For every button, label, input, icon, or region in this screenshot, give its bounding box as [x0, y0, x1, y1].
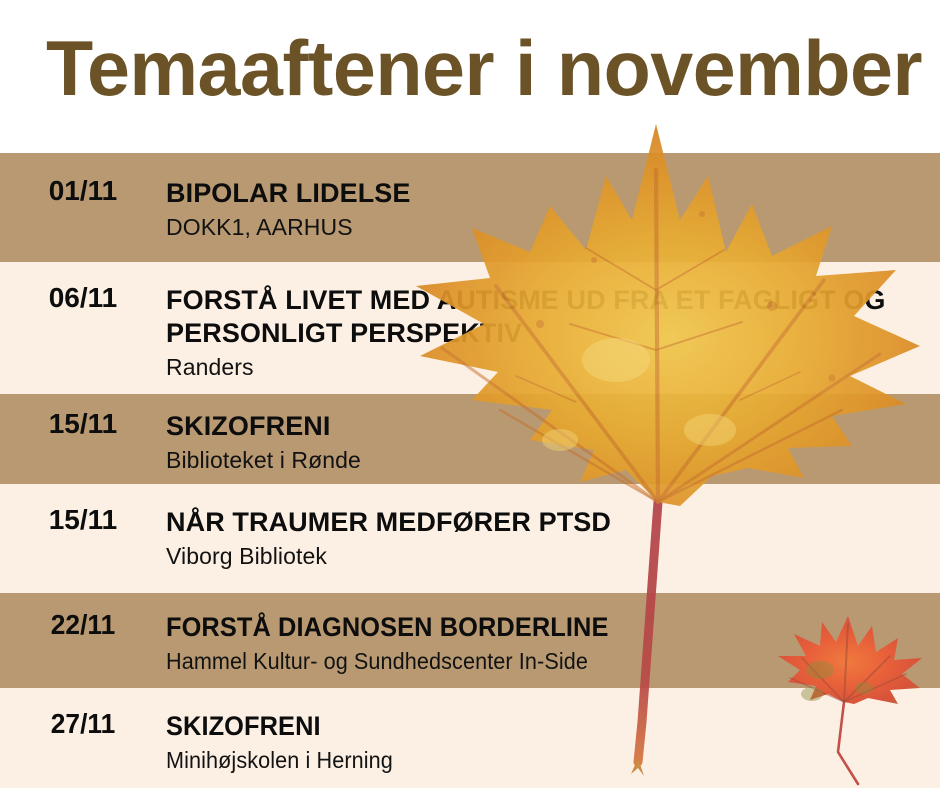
event-details: BIPOLAR LIDELSEDOKK1, AARHUS [166, 177, 940, 242]
event-venue: Minihøjskolen i Herning [166, 745, 880, 775]
schedule-row: 27/11SKIZOFRENIMinihøjskolen i Herning [0, 688, 940, 788]
event-date: 06/11 [0, 284, 166, 312]
event-title: SKIZOFRENI [166, 410, 926, 443]
event-venue: Biblioteket i Rønde [166, 445, 926, 475]
event-date: 22/11 [5, 611, 161, 639]
schedule-row: 22/11FORSTÅ DIAGNOSEN BORDERLINEHammel K… [0, 593, 940, 688]
schedule-list: 01/11BIPOLAR LIDELSEDOKK1, AARHUS06/11FO… [0, 153, 940, 788]
event-title: NÅR TRAUMER MEDFØRER PTSD [166, 506, 926, 539]
event-title: FORSTÅ LIVET MED AUTISME UD FRA ET FAGLI… [166, 284, 926, 350]
page-title: Temaaftener i november [46, 26, 897, 110]
event-details: FORSTÅ LIVET MED AUTISME UD FRA ET FAGLI… [166, 284, 940, 382]
event-date: 15/11 [0, 506, 166, 534]
event-details: FORSTÅ DIAGNOSEN BORDERLINEHammel Kultur… [166, 611, 940, 676]
poster-canvas: 01/11BIPOLAR LIDELSEDOKK1, AARHUS06/11FO… [0, 0, 940, 788]
event-details: NÅR TRAUMER MEDFØRER PTSDViborg Bibliote… [166, 506, 940, 571]
schedule-row: 15/11NÅR TRAUMER MEDFØRER PTSDViborg Bib… [0, 484, 940, 593]
event-details: SKIZOFRENIMinihøjskolen i Herning [166, 710, 940, 775]
event-title: FORSTÅ DIAGNOSEN BORDERLINE [166, 611, 880, 644]
event-details: SKIZOFRENIBiblioteket i Rønde [166, 410, 940, 475]
schedule-row: 06/11FORSTÅ LIVET MED AUTISME UD FRA ET … [0, 262, 940, 394]
schedule-row: 15/11SKIZOFRENIBiblioteket i Rønde [0, 394, 940, 484]
event-venue: Viborg Bibliotek [166, 541, 926, 571]
event-date: 15/11 [0, 410, 166, 438]
event-venue: Hammel Kultur- og Sundhedscenter In-Side [166, 646, 880, 676]
event-date: 27/11 [5, 710, 161, 738]
event-venue: DOKK1, AARHUS [166, 212, 926, 242]
schedule-row: 01/11BIPOLAR LIDELSEDOKK1, AARHUS [0, 153, 940, 262]
poster-header: Temaaftener i november [0, 0, 940, 153]
event-date: 01/11 [0, 177, 166, 205]
event-title: SKIZOFRENI [166, 710, 880, 743]
event-title: BIPOLAR LIDELSE [166, 177, 926, 210]
event-venue: Randers [166, 352, 926, 382]
